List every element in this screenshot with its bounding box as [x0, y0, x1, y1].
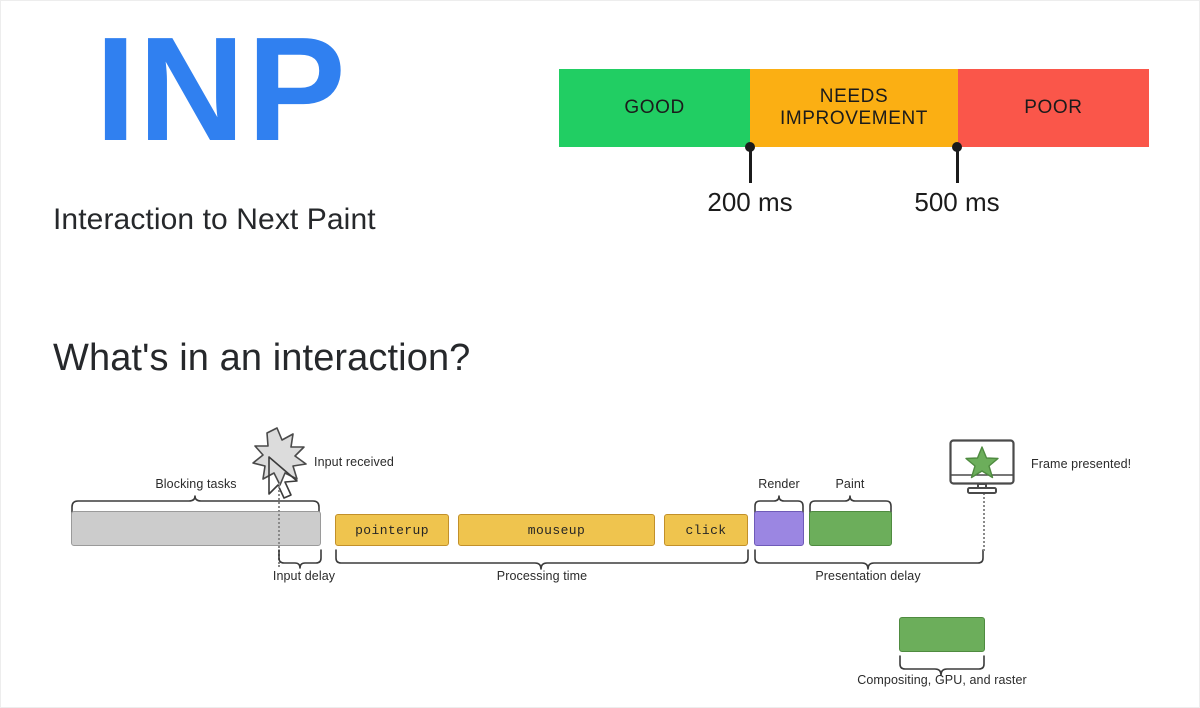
paint-label: Paint: [836, 477, 865, 491]
threshold-segment-needs-improvement: NEEDS IMPROVEMENT: [750, 69, 958, 147]
event-box-mouseup-label: mouseup: [528, 523, 585, 538]
section-heading: What's in an interaction?: [53, 337, 470, 380]
threshold-segment-needs-improvement-label: NEEDS IMPROVEMENT: [780, 86, 928, 130]
blocking-tasks-label: Blocking tasks: [155, 477, 236, 491]
threshold-marker-200ms-stem: [749, 147, 752, 183]
mouse-cursor-icon: [267, 456, 307, 504]
needs-improvement-line-2: IMPROVEMENT: [780, 108, 928, 129]
threshold-marker-500ms-label: 500 ms: [914, 187, 999, 218]
threshold-segment-poor-label: POOR: [1024, 97, 1082, 119]
event-box-mouseup: mouseup: [458, 514, 655, 546]
needs-improvement-line-1: NEEDS: [820, 86, 888, 107]
render-label: Render: [758, 477, 800, 491]
input-delay-label: Input delay: [273, 569, 335, 583]
processing-time-label: Processing time: [497, 569, 587, 583]
event-box-pointerup-label: pointerup: [355, 523, 429, 538]
presentation-delay-label: Presentation delay: [815, 569, 920, 583]
monitor-icon: [949, 439, 1021, 497]
threshold-segment-good: GOOD: [559, 69, 750, 147]
input-received-label: Input received: [314, 455, 394, 469]
event-box-click-label: click: [685, 523, 726, 538]
threshold-segment-poor: POOR: [958, 69, 1149, 147]
frame-presented-guide-line: [983, 489, 985, 551]
compositing-label: Compositing, GPU, and raster: [857, 673, 1027, 687]
frame-presented-label: Frame presented!: [1031, 457, 1131, 471]
threshold-segment-good-label: GOOD: [624, 97, 684, 119]
metric-full-name: Interaction to Next Paint: [53, 203, 376, 237]
metric-abbreviation: INP: [95, 16, 348, 164]
event-box-pointerup: pointerup: [335, 514, 449, 546]
paint-box: [809, 511, 892, 546]
event-box-click: click: [664, 514, 748, 546]
inp-threshold-bar: GOOD NEEDS IMPROVEMENT POOR: [559, 69, 1149, 147]
threshold-marker-200ms-label: 200 ms: [707, 187, 792, 218]
compositing-box: [899, 617, 985, 652]
threshold-marker-500ms-stem: [956, 147, 959, 183]
slide-canvas: INP Interaction to Next Paint GOOD NEEDS…: [0, 0, 1200, 708]
input-delay-brace: [278, 549, 322, 571]
blocking-tasks-bar: [71, 511, 321, 546]
render-box: [754, 511, 804, 546]
